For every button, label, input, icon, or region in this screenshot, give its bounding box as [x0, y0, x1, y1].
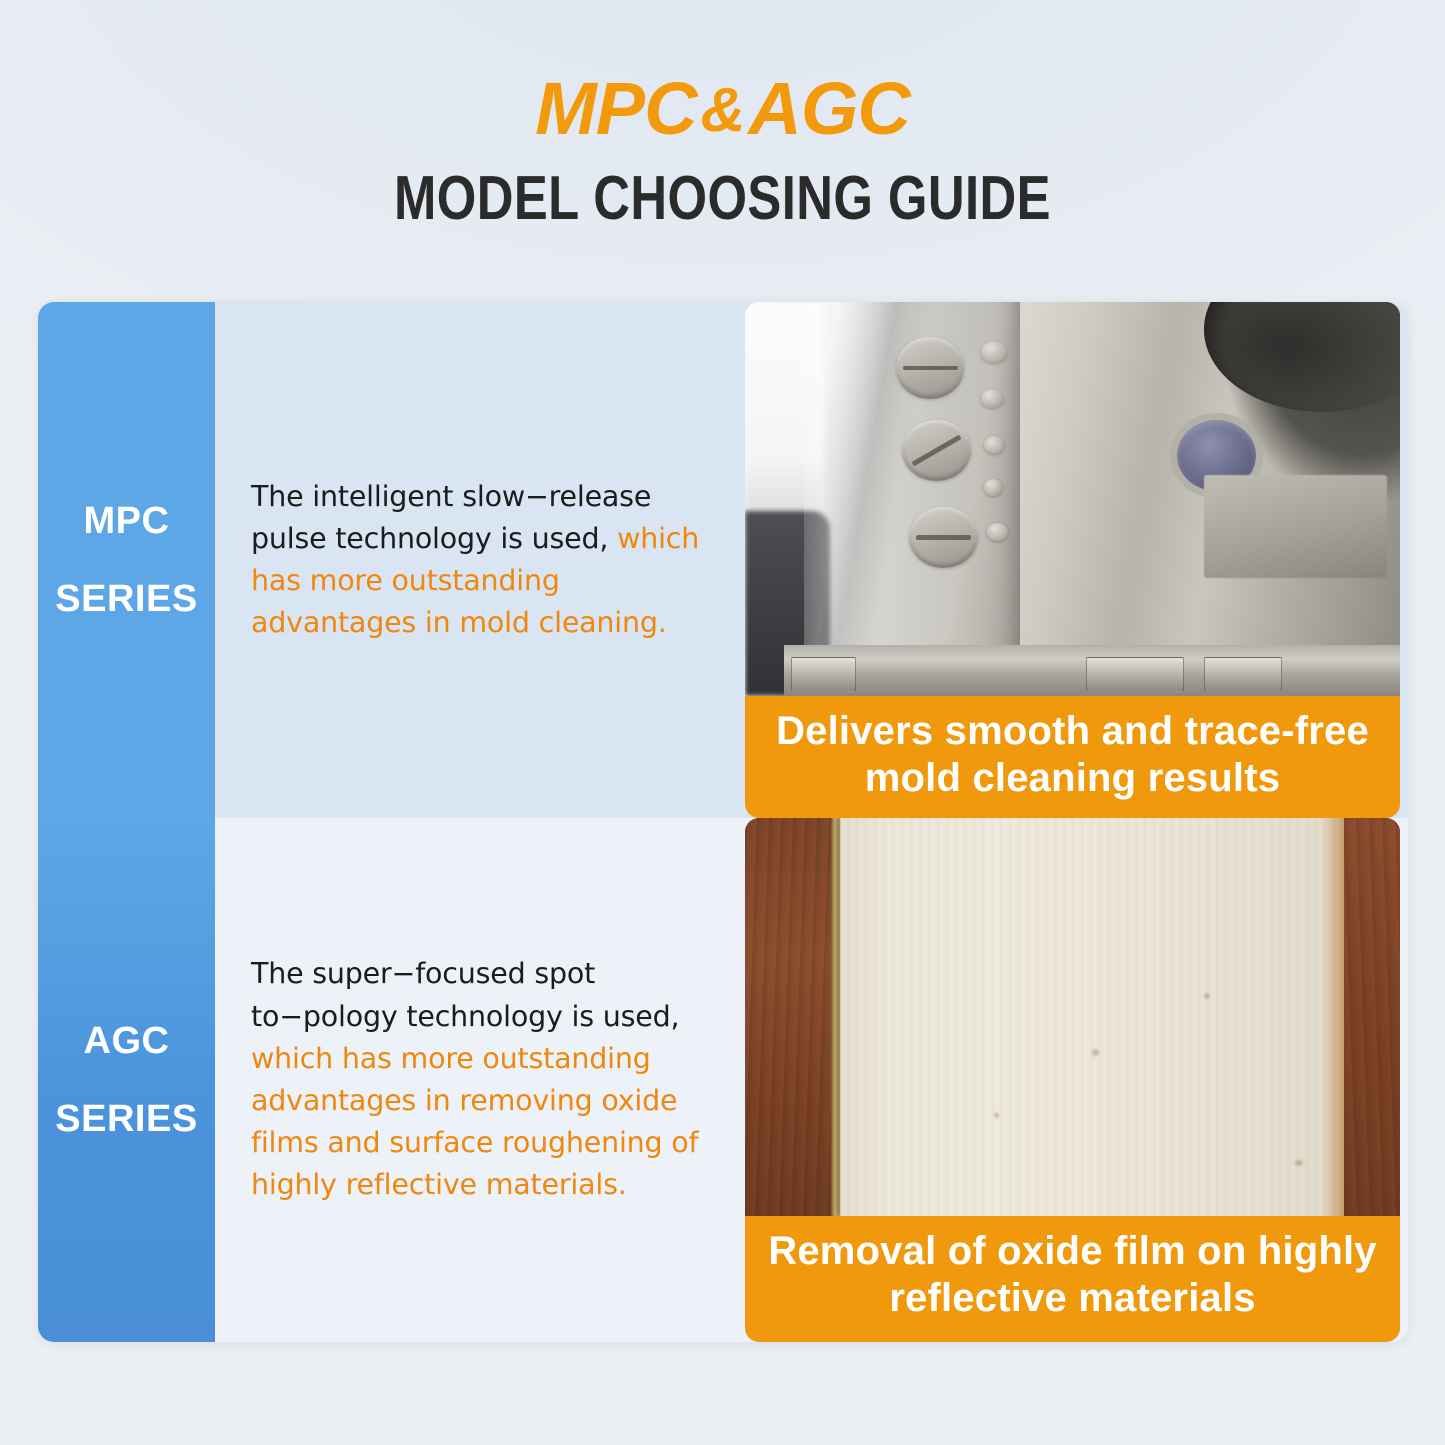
title-agc: AGC: [748, 67, 909, 150]
sidebar-agc-line2: SERIES: [55, 1100, 197, 1138]
agc-description: The super−focused spot to−pology technol…: [251, 953, 719, 1206]
sidebar-item-mpc[interactable]: MPC SERIES: [38, 302, 215, 818]
metal-bump-icon: [987, 523, 1008, 541]
agc-caption-bar: Removal of oxide film on highly reflecti…: [745, 1216, 1400, 1342]
mpc-text-lead: The intelligent slow−release pulse techn…: [251, 480, 651, 555]
metal-bump-icon: [984, 436, 1004, 454]
strip-spot: [1092, 1049, 1099, 1056]
metal-plug-icon: [902, 420, 971, 481]
sidebar-item-agc[interactable]: AGC SERIES: [38, 818, 215, 1342]
metal-bore-icon: [1204, 302, 1401, 412]
metal-plug-icon: [896, 337, 965, 398]
metal-clamp-shape: [1086, 657, 1184, 692]
mpc-caption-bar: Delivers smooth and trace-free mold clea…: [745, 696, 1400, 818]
sidebar-agc-line1: AGC: [84, 1022, 170, 1060]
machined-metal-part-photo: [745, 302, 1400, 696]
strip-spot: [994, 1113, 999, 1118]
agc-photo-frame: Removal of oxide film on highly reflecti…: [745, 818, 1400, 1342]
strip-grain-texture: [837, 818, 1341, 1216]
sidebar-mpc-line1: MPC: [84, 502, 170, 540]
row-agc: AGC SERIES The super−focused spot to−pol…: [38, 818, 1408, 1342]
mpc-text-column: The intelligent slow−release pulse techn…: [215, 302, 745, 818]
page-subtitle: MODEL CHOOSING GUIDE: [130, 168, 1315, 230]
sidebar-mpc-line2: SERIES: [55, 580, 197, 618]
strip-spot: [1204, 993, 1210, 999]
metal-rib-shape: [1204, 475, 1387, 577]
page-header: MPC&AGC MODEL CHOOSING GUIDE: [0, 0, 1445, 290]
oxidized-edge-right: [1344, 818, 1400, 1216]
comparison-card: MPC SERIES The intelligent slow−release …: [38, 302, 1408, 1342]
metal-clamp-shape: [791, 657, 857, 692]
title-ampersand: &: [697, 76, 749, 145]
title-mpc: MPC: [535, 67, 696, 150]
mpc-photo-column: Delivers smooth and trace-free mold clea…: [745, 302, 1408, 818]
oxidized-edge-left: [745, 818, 833, 1216]
agc-text-highlight: which has more outstanding advantages in…: [251, 1042, 698, 1202]
mpc-photo-frame: Delivers smooth and trace-free mold clea…: [745, 302, 1400, 818]
metal-plug-icon: [909, 507, 978, 568]
metal-bump-icon: [981, 341, 1007, 363]
page-title: MPC&AGC: [0, 72, 1445, 146]
agc-text-column: The super−focused spot to−pology technol…: [215, 818, 745, 1342]
cleaned-reflective-strip-photo: [745, 818, 1400, 1216]
metal-clamp-shape: [1204, 657, 1283, 692]
row-mpc: MPC SERIES The intelligent slow−release …: [38, 302, 1408, 818]
agc-text-lead: The super−focused spot to−pology technol…: [251, 957, 679, 1032]
mpc-description: The intelligent slow−release pulse techn…: [251, 476, 719, 645]
agc-photo-column: Removal of oxide film on highly reflecti…: [745, 818, 1408, 1342]
